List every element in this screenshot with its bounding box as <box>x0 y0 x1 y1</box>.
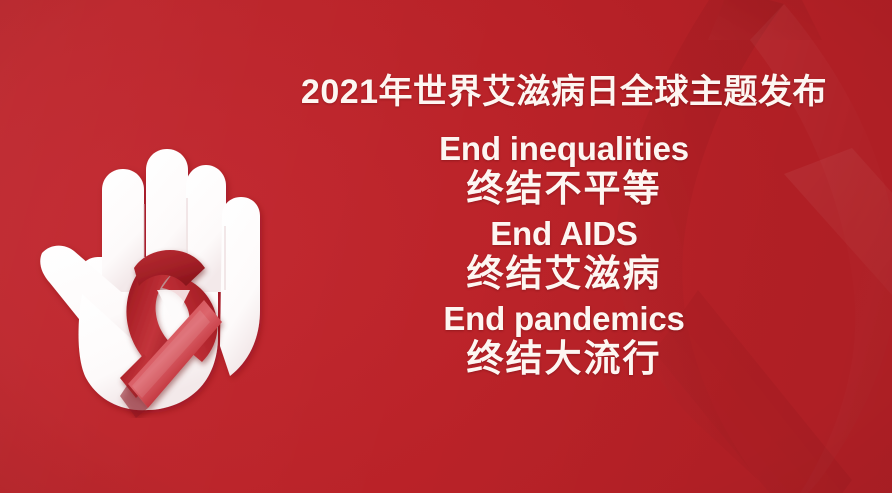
slogan-list: End inequalities 终结不平等 End AIDS 终结艾滋病 En… <box>258 130 870 380</box>
poster-title: 2021年世界艾滋病日全球主题发布 <box>258 70 870 114</box>
slogan-zh-3: 终结大流行 <box>258 338 870 380</box>
poster-text-block: 2021年世界艾滋病日全球主题发布 End inequalities 终结不平等… <box>258 70 870 385</box>
slogan-en-2: End AIDS <box>258 215 870 252</box>
slogan-en-1: End inequalities <box>258 130 870 167</box>
slogan-pair-2: End AIDS 终结艾滋病 <box>258 215 870 295</box>
slogan-zh-1: 终结不平等 <box>258 168 870 210</box>
slogan-pair-1: End inequalities 终结不平等 <box>258 130 870 210</box>
slogan-zh-2: 终结艾滋病 <box>258 253 870 295</box>
hand-and-ribbon-emblem <box>24 78 268 418</box>
slogan-en-3: End pandemics <box>258 300 870 337</box>
world-aids-day-poster: 2021年世界艾滋病日全球主题发布 End inequalities 终结不平等… <box>0 0 892 493</box>
slogan-pair-3: End pandemics 终结大流行 <box>258 300 870 380</box>
